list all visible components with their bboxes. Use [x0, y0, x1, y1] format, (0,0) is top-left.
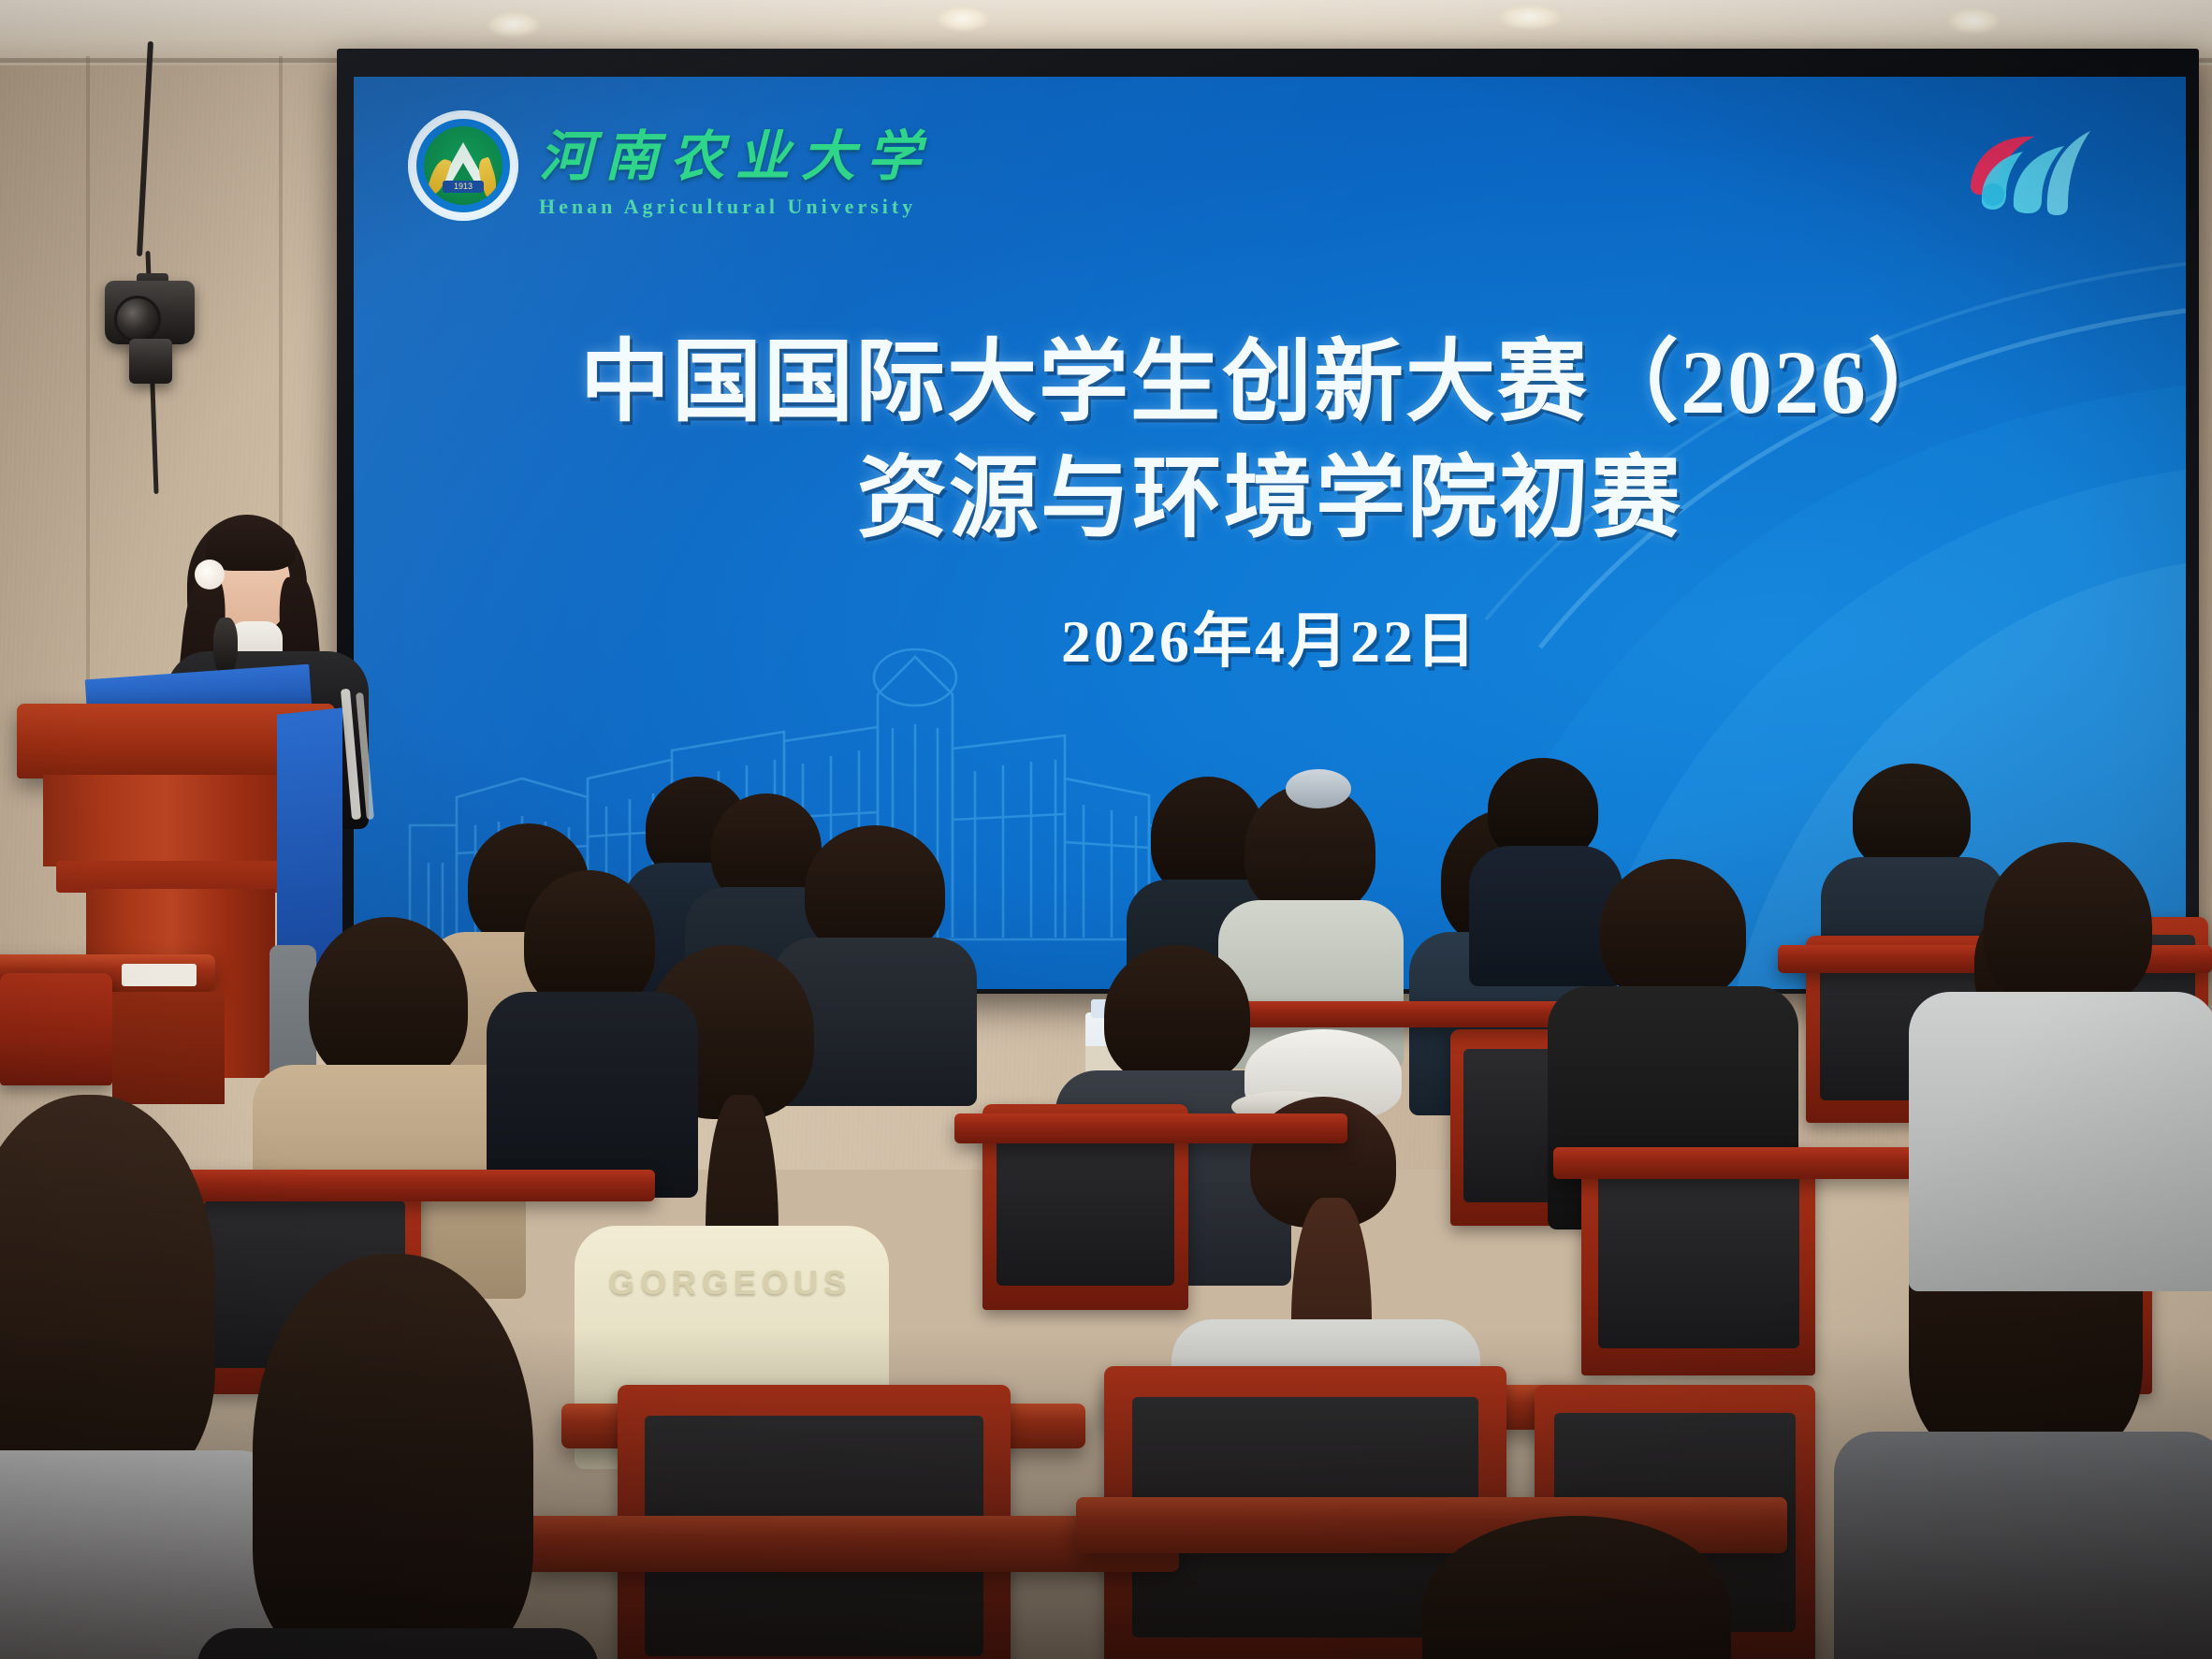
- slide-date: 2026年4月22日: [354, 593, 2186, 679]
- person-hair: [524, 870, 655, 1011]
- ceiling-downlight: [487, 13, 541, 37]
- podium-body: [43, 775, 314, 866]
- person-hair: [1984, 842, 2152, 1011]
- seal-inner-disc: 1913: [424, 126, 502, 205]
- microphone[interactable]: [213, 618, 238, 676]
- table-leg: [112, 992, 225, 1104]
- person-torso: [487, 992, 698, 1198]
- camera-neck: [129, 339, 172, 384]
- seal-year-band: 1913: [443, 181, 484, 193]
- foreground-shadow: [0, 1329, 2212, 1659]
- person-hair: [805, 825, 945, 956]
- university-name-en: Henan Agricultural University: [539, 195, 932, 219]
- podium-neck: [56, 861, 301, 893]
- person-hair: [1853, 764, 1971, 872]
- conference-hall-photo: 1913 河南农业大学 Henan Agricultural Universit…: [0, 0, 2212, 1659]
- person-torso: [1909, 992, 2212, 1291]
- person-hair: [309, 917, 468, 1085]
- university-seal: 1913: [408, 110, 518, 221]
- bench-rail: [954, 1113, 1347, 1143]
- speaker-hair-clip: [195, 560, 225, 589]
- table-item-papers: [122, 964, 196, 986]
- slide-title-line-2: 资源与环境学院初赛: [354, 425, 2186, 555]
- sweatshirt-text: GORGEOUS: [608, 1263, 851, 1302]
- person-hair-tie: [1286, 769, 1351, 808]
- university-name-group: 河南农业大学 Henan Agricultural University: [539, 112, 932, 219]
- person-torso: [1469, 846, 1623, 986]
- university-name-cn: 河南农业大学: [539, 112, 932, 191]
- person-hair: [1104, 945, 1250, 1085]
- ceiling-downlight: [936, 7, 990, 32]
- chair-cushion: [997, 1125, 1173, 1286]
- ceiling-downlight: [1497, 6, 1563, 30]
- slide-title-line-1: 中国国际大学生创新大赛（2026）: [354, 309, 2186, 439]
- university-branding: 1913 河南农业大学 Henan Agricultural Universit…: [408, 110, 932, 221]
- person-hair: [1600, 859, 1746, 1001]
- front-chair[interactable]: [0, 973, 112, 1085]
- chair-cushion: [1598, 1173, 1799, 1348]
- ceiling-downlight: [1946, 9, 2001, 34]
- camera-lens-icon: [114, 296, 161, 342]
- bench-rail: [168, 1170, 655, 1201]
- competition-logo: [1954, 116, 2094, 219]
